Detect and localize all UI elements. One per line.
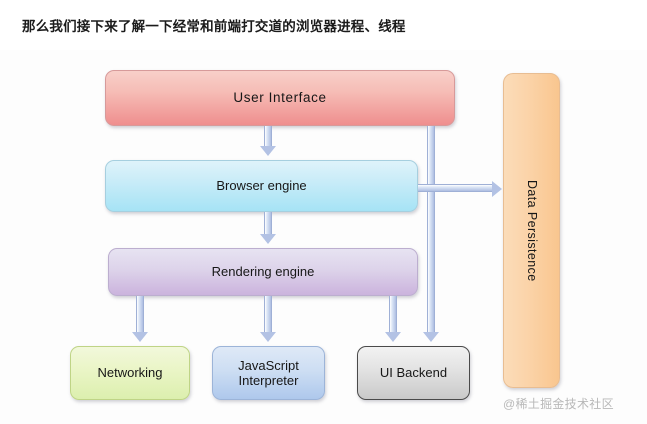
node-rendering-engine-label: Rendering engine	[212, 264, 315, 279]
arrow-shaft	[264, 296, 272, 334]
node-user-interface-label: User Interface	[233, 90, 326, 106]
node-javascript-interpreter: JavaScript Interpreter	[212, 346, 325, 400]
arrow-shaft	[389, 296, 397, 334]
arrow-shaft	[136, 296, 144, 334]
page-caption: 那么我们接下来了解一下经常和前端打交道的浏览器进程、线程	[22, 15, 406, 35]
arrow-head-down-icon	[423, 332, 439, 342]
node-javascript-interpreter-label-line2: Interpreter	[239, 373, 299, 388]
node-data-persistence: Data Persistence	[503, 73, 560, 388]
arrow-shaft	[264, 126, 272, 148]
arrow-head-right-icon	[492, 181, 502, 197]
caption-bar: 那么我们接下来了解一下经常和前端打交道的浏览器进程、线程	[0, 0, 647, 50]
arrow-shaft	[427, 126, 435, 334]
watermark: @稀土掘金技术社区	[503, 395, 614, 412]
arrow-head-down-icon	[260, 332, 276, 342]
node-networking-label: Networking	[97, 365, 162, 380]
node-data-persistence-label: Data Persistence	[524, 180, 539, 282]
node-browser-engine: Browser engine	[105, 160, 418, 212]
node-ui-backend-label: UI Backend	[380, 365, 447, 380]
arrow-head-down-icon	[260, 146, 276, 156]
arrow-head-down-icon	[385, 332, 401, 342]
node-networking: Networking	[70, 346, 190, 400]
node-javascript-interpreter-label-line1: JavaScript	[238, 358, 299, 373]
node-browser-engine-label: Browser engine	[216, 178, 306, 193]
arrow-head-down-icon	[132, 332, 148, 342]
node-user-interface: User Interface	[105, 70, 455, 126]
node-rendering-engine: Rendering engine	[108, 248, 418, 296]
browser-architecture-diagram: User Interface Browser engine Rendering …	[0, 50, 647, 424]
arrow-head-down-icon	[260, 234, 276, 244]
arrow-shaft	[264, 212, 272, 236]
node-ui-backend: UI Backend	[357, 346, 470, 400]
arrow-shaft	[418, 184, 494, 192]
